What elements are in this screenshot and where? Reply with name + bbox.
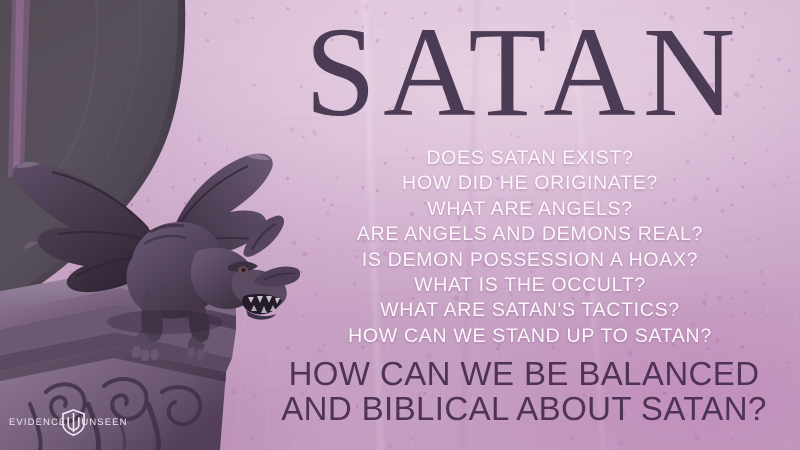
headline: HOW CAN WE BE BALANCED AND BIBLICAL ABOU… bbox=[248, 356, 800, 426]
question-item: WHAT ARE SATAN'S TACTICS? bbox=[268, 298, 792, 323]
question-item: ARE ANGELS AND DEMONS REAL? bbox=[268, 222, 792, 247]
page-title: SATAN bbox=[280, 8, 760, 136]
headline-line: AND BIBLICAL ABOUT SATAN? bbox=[248, 391, 800, 426]
logo-evidence-unseen[interactable]: EVIDENCE UNSEEN bbox=[9, 409, 128, 436]
question-list: DOES SATAN EXIST? HOW DID HE ORIGINATE? … bbox=[268, 146, 792, 349]
question-item: HOW DID HE ORIGINATE? bbox=[268, 171, 792, 196]
question-item: DOES SATAN EXIST? bbox=[268, 146, 792, 171]
question-item: HOW CAN WE STAND UP TO SATAN? bbox=[268, 324, 792, 349]
logo-word-unseen: UNSEEN bbox=[81, 417, 127, 428]
question-item: WHAT IS THE OCCULT? bbox=[268, 273, 792, 298]
headline-line: HOW CAN WE BE BALANCED bbox=[248, 356, 800, 391]
satan-poster: SATAN DOES SATAN EXIST? HOW DID HE ORIGI… bbox=[0, 0, 800, 450]
logo-word-evidence: EVIDENCE bbox=[9, 417, 66, 428]
question-item: WHAT ARE ANGELS? bbox=[268, 197, 792, 222]
question-item: IS DEMON POSSESSION A HOAX? bbox=[268, 248, 792, 273]
